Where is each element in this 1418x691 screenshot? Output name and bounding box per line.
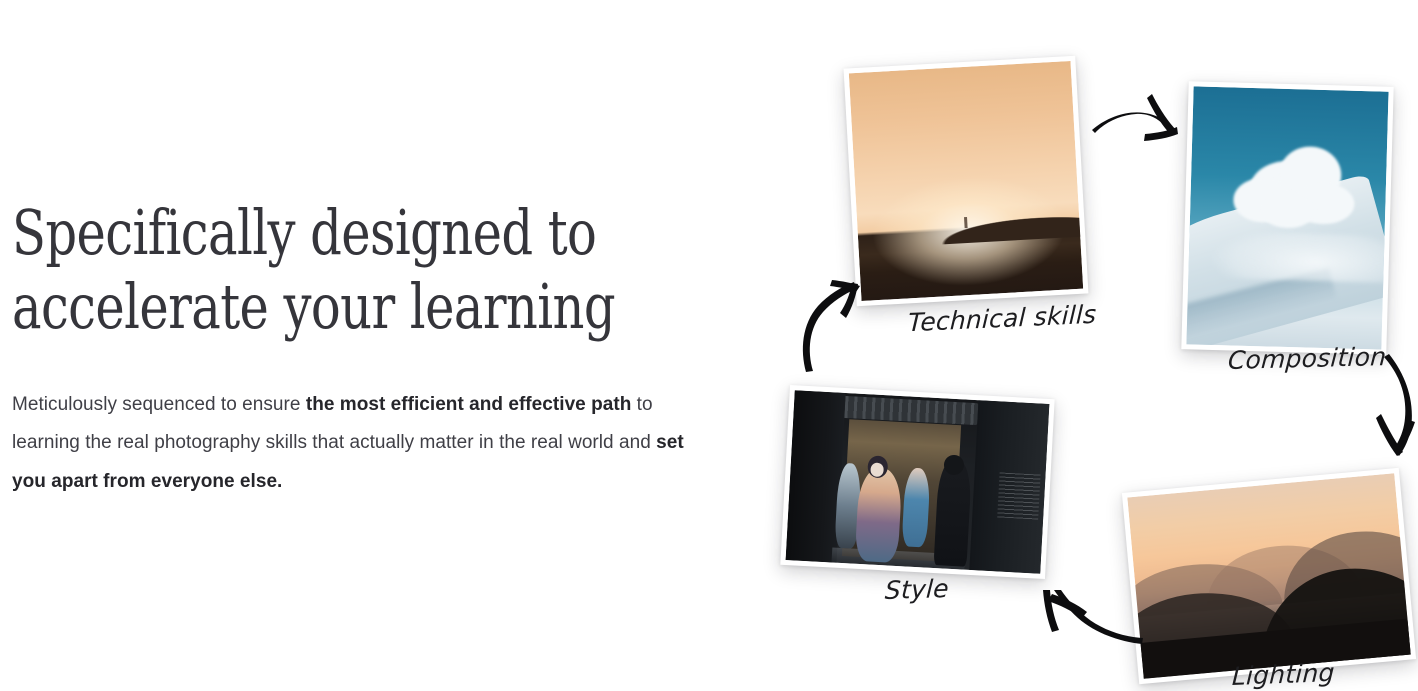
photo-frame [1127, 473, 1410, 679]
window-lattice [997, 473, 1040, 519]
arrow-right-icon [1090, 90, 1185, 152]
copy-column: Specifically designed to accelerate your… [12, 196, 702, 502]
photo-frame [849, 61, 1083, 301]
headline-line-1: Specifically designed to [12, 196, 564, 270]
photo-image-cloud-over-snow [1186, 86, 1388, 349]
photo-frame [786, 390, 1050, 574]
page-title: Specifically designed to accelerate your… [12, 196, 564, 344]
photo-card-lighting [1122, 468, 1416, 684]
paragraph-part-1: Meticulously sequenced to ensure [12, 394, 306, 415]
paragraph-bold-1: the most efficient and effective path [306, 394, 632, 415]
arrow-up-right-icon [792, 278, 862, 374]
lone-figure-silhouette [964, 217, 968, 228]
photo-image-kyoto-alley [786, 390, 1050, 574]
photo-caption-style: Style [884, 574, 949, 605]
photo-frame [1186, 86, 1388, 349]
body-paragraph: Meticulously sequenced to ensure the mos… [12, 344, 684, 503]
low-cloud-haze [1186, 230, 1388, 283]
photo-card-composition [1181, 81, 1393, 355]
photo-caption-lighting: Lighting [1231, 658, 1335, 691]
photo-card-style [780, 385, 1054, 579]
photo-card-technical-skills [844, 56, 1089, 307]
photo-caption-technical-skills: Technical skills [907, 300, 1096, 338]
learning-path-section: Specifically designed to accelerate your… [0, 0, 1418, 690]
headline-line-2: accelerate your learning [12, 270, 564, 344]
photo-cluster: Technical skills Composition [760, 0, 1418, 690]
photo-image-sunset-hills [849, 61, 1083, 301]
photo-caption-composition: Composition [1227, 342, 1387, 375]
photo-image-mountain-layers [1127, 473, 1410, 679]
